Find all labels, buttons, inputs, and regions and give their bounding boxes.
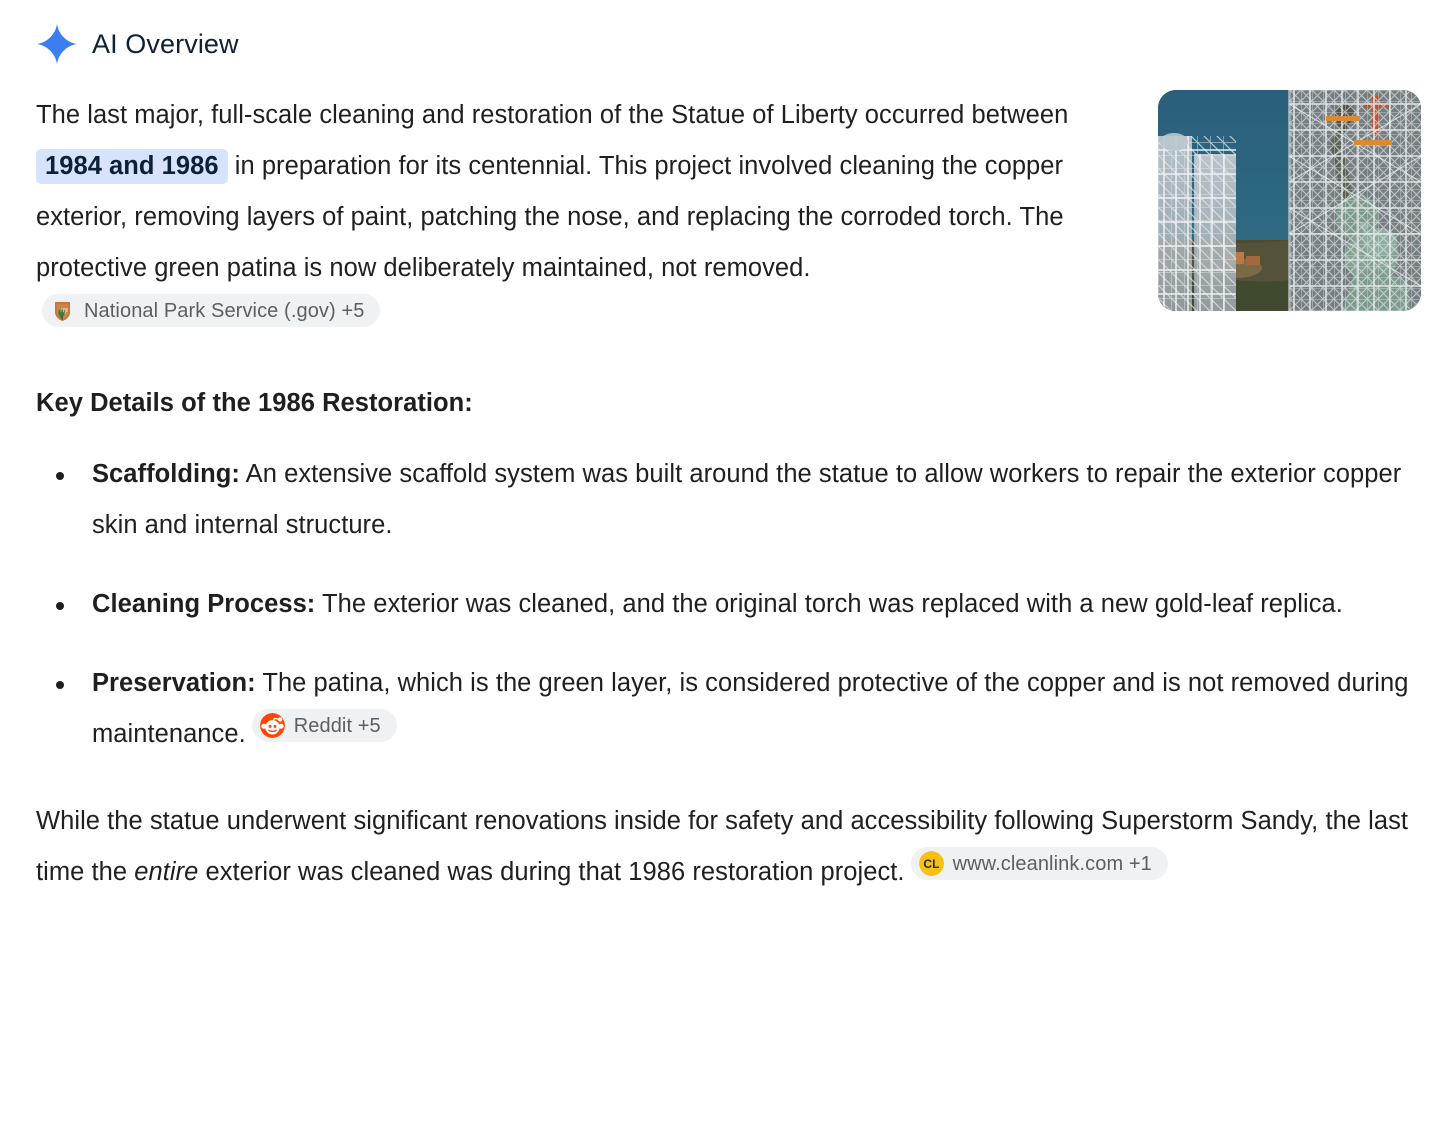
bullet-label: Preservation:	[92, 669, 256, 697]
reddit-icon	[260, 713, 285, 738]
emphasized-word: entire	[134, 858, 198, 886]
cleanlink-icon: CL	[919, 851, 944, 876]
statue-of-liberty-scaffolding-thumbnail[interactable]	[1158, 90, 1421, 311]
section-title: Key Details of the 1986 Restoration:	[36, 383, 1421, 423]
citation-chip-reddit[interactable]: Reddit +5	[252, 709, 397, 742]
sparkle-icon	[36, 23, 78, 65]
bullet-label: Scaffolding:	[92, 460, 240, 488]
bullet-label: Cleaning Process:	[92, 590, 315, 618]
national-park-service-icon	[50, 298, 75, 323]
citation-label: National Park Service (.gov) +5	[84, 301, 364, 321]
list-item: Cleaning Process: The exterior was clean…	[36, 579, 1421, 630]
tail-paragraph: While the statue underwent significant r…	[36, 796, 1426, 898]
ai-overview-content: The last major, full-scale cleaning and …	[36, 90, 1421, 898]
ai-overview-card: AI Overview	[0, 0, 1455, 1137]
page-title: AI Overview	[92, 31, 239, 58]
tail-text-part2: exterior was cleaned was during that 198…	[198, 858, 904, 886]
key-details-list: Scaffolding: An extensive scaffold syste…	[36, 449, 1421, 760]
list-item: Preservation: The patina, which is the g…	[36, 658, 1421, 760]
list-item: Scaffolding: An extensive scaffold syste…	[36, 449, 1421, 551]
citation-label: www.cleanlink.com +1	[953, 854, 1152, 874]
bullet-text: The exterior was cleaned, and the origin…	[315, 590, 1343, 618]
bullet-text: An extensive scaffold system was built a…	[92, 460, 1401, 539]
lead-text-part1: The last major, full-scale cleaning and …	[36, 101, 1068, 129]
citation-chip-cleanlink[interactable]: CLwww.cleanlink.com +1	[911, 847, 1168, 880]
svg-text:CL: CL	[923, 857, 939, 871]
lead-paragraph: The last major, full-scale cleaning and …	[36, 90, 1106, 345]
citation-chip-national-park-service[interactable]: National Park Service (.gov) +5	[42, 294, 380, 327]
highlighted-date-range: 1984 and 1986	[36, 149, 228, 184]
ai-overview-header: AI Overview	[36, 18, 1421, 70]
citation-label: Reddit +5	[294, 716, 381, 736]
